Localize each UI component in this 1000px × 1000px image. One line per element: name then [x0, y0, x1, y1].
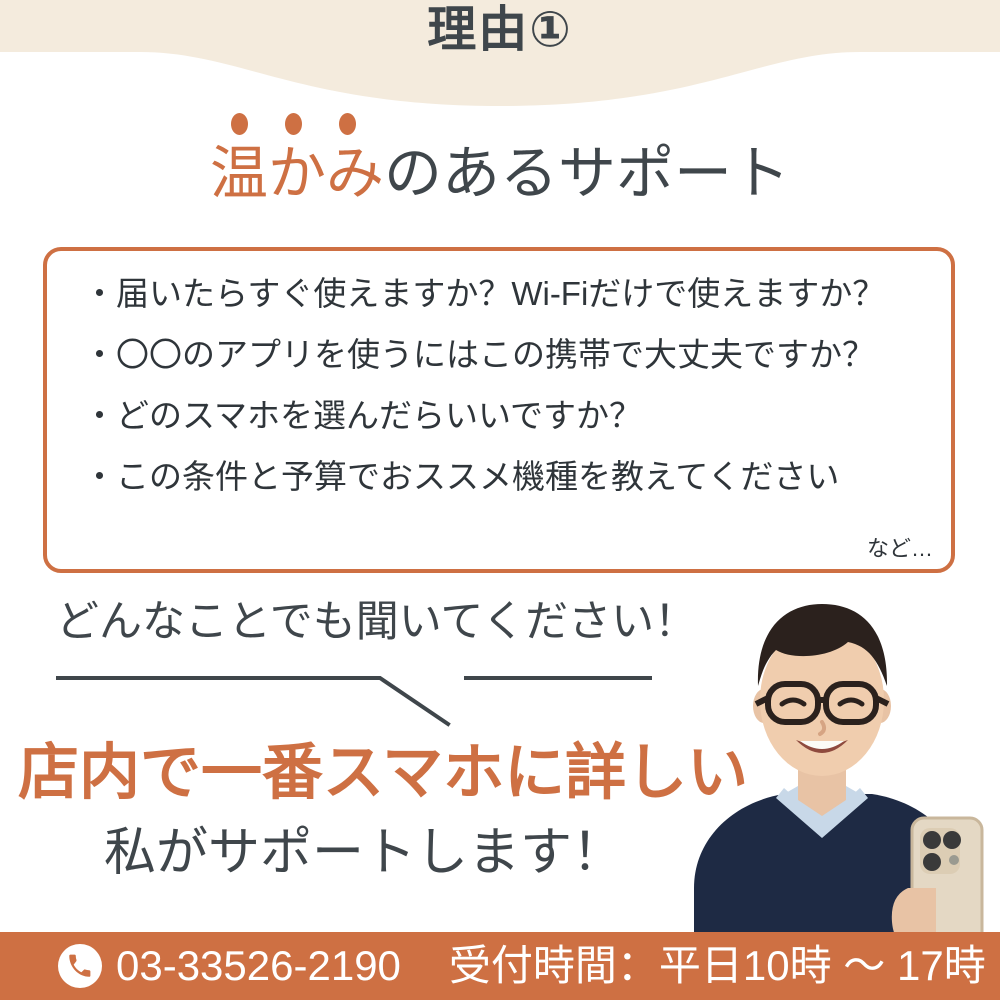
- top-banner: 理由①: [0, 0, 1000, 112]
- emphasis-dot-icon: [339, 113, 356, 135]
- claim-headline: 店内で一番スマホに詳しい: [18, 742, 748, 803]
- emphasis-dot-icon: [231, 113, 248, 135]
- phone-number[interactable]: 03-33526-2190: [116, 945, 401, 987]
- headline-accent: 温かみ: [210, 141, 384, 206]
- page-title: 理由①: [0, 6, 1000, 55]
- claim-subline: 私がサポートします！: [104, 827, 624, 879]
- list-item: ・〇〇のアプリを使うにはこの携帯で大丈夫ですか？: [83, 338, 933, 371]
- question-list: ・届いたらすぐ使えますか？Wi-Fiだけで使えますか？ ・〇〇のアプリを使うには…: [83, 277, 933, 493]
- staff-photo: [672, 588, 1000, 948]
- headline-rest: のあるサポート: [384, 141, 790, 206]
- phone-handset-icon: [58, 944, 102, 988]
- etc-label: など…: [867, 531, 933, 563]
- business-hours: 受付時間：平日10時 〜 17時: [449, 945, 986, 987]
- contact-footer-bar: 03-33526-2190 受付時間：平日10時 〜 17時: [0, 932, 1000, 1000]
- emphasis-dots: [231, 113, 371, 137]
- list-item: ・この条件と予算でおススメ機種を教えてください: [83, 460, 933, 493]
- headline: 温かみのあるサポート: [0, 142, 1000, 207]
- list-item: ・届いたらすぐ使えますか？Wi-Fiだけで使えますか？: [83, 277, 933, 310]
- ask-anything-text: どんなことでも聞いてください！: [56, 601, 697, 644]
- promo-poster: 理由① 温かみのあるサポート ・届いたらすぐ使えますか？Wi-Fiだけで使えます…: [0, 0, 1000, 1000]
- list-item: ・どのスマホを選んだらいいですか？: [83, 399, 933, 432]
- question-examples-box: ・届いたらすぐ使えますか？Wi-Fiだけで使えますか？ ・〇〇のアプリを使うには…: [43, 247, 955, 573]
- emphasis-dot-icon: [285, 113, 302, 135]
